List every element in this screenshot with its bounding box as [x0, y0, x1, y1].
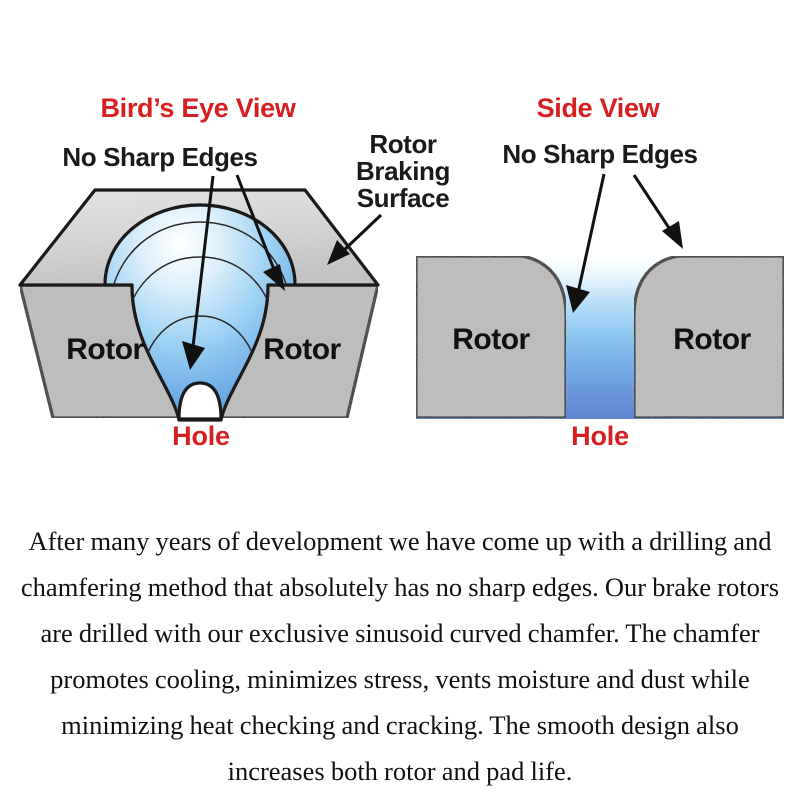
side-view-hole-label: Hole [571, 421, 629, 451]
bird-eye-rotor-label-right: Rotor [263, 333, 341, 366]
bird-eye-view-group: Bird’s Eye View No Sharp Edges Rotor Bra… [20, 93, 450, 451]
description-paragraph: After many years of development we have … [0, 518, 800, 794]
side-view-title: Side View [537, 93, 661, 123]
rotor-braking-surface-label-line2: Braking [356, 156, 450, 186]
rotor-braking-surface-label-line3: Surface [357, 183, 450, 213]
bird-eye-hole-label: Hole [172, 421, 230, 451]
side-view-group: Side View No Sharp Edges Rotor [416, 93, 784, 451]
bird-eye-view-title: Bird’s Eye View [100, 93, 296, 123]
bird-eye-no-sharp-edges-label: No Sharp Edges [62, 142, 257, 172]
side-view-no-sharp-edges-label: No Sharp Edges [502, 139, 697, 169]
through-hole-opening [179, 383, 221, 419]
bird-eye-rotor-label-left: Rotor [66, 333, 144, 366]
side-view-rotor-label-right: Rotor [673, 323, 751, 356]
diagram-page: Bird’s Eye View No Sharp Edges Rotor Bra… [0, 0, 800, 800]
rotor-braking-surface-label-line1: Rotor [369, 129, 437, 159]
figure-area: Bird’s Eye View No Sharp Edges Rotor Bra… [0, 0, 800, 470]
leader-side-no-sharp-edges-right [634, 175, 683, 249]
description-block: After many years of development we have … [0, 518, 800, 794]
side-view-rotor-label-left: Rotor [452, 323, 530, 356]
rotor-chamfer-figure: Bird’s Eye View No Sharp Edges Rotor Bra… [0, 0, 800, 470]
